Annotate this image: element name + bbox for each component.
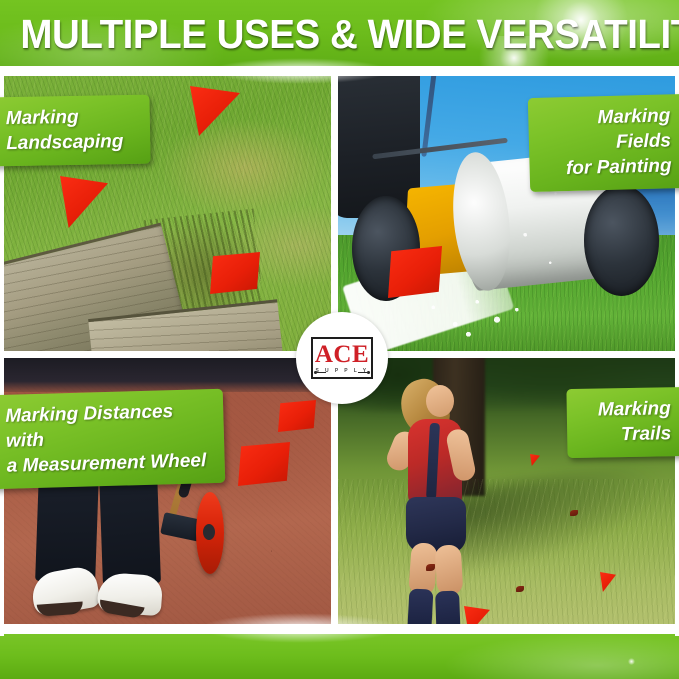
header-banner: MULTIPLE USES & WIDE VERSATILITY [0,0,679,68]
fallen-leaf [516,586,524,592]
logo-tagline: S U P P L Y [316,368,369,375]
marker-flag-icon [600,572,616,592]
runner [386,375,474,634]
fallen-leaf [426,564,435,571]
runner-shorts [406,497,466,553]
label-marking-landscaping: Marking Landscaping [0,95,151,167]
logo-brand-name: ACE [315,343,369,367]
logo-dot [367,371,370,374]
product-infographic: MULTIPLE USES & WIDE VERSATILITY R E [0,0,679,679]
marker-flag-icon [210,252,260,294]
marker-flag-icon [190,86,240,136]
label-marking-trails: Marking Trails [566,387,679,458]
measuring-wheel-hub [203,524,215,540]
page-title: MULTIPLE USES & WIDE VERSATILITY [20,12,658,56]
footer-banner [0,634,679,679]
machine-wheel [584,185,659,296]
marker-flag-icon [60,176,108,228]
label-marking-distances: Marking Distances with a Measurement Whe… [0,389,225,489]
marker-flag-icon [278,400,316,432]
fallen-leaf [570,510,578,516]
footer-divider [0,624,679,634]
brand-logo-badge: ACE S U P P L Y [296,312,388,404]
background-shadow [0,358,331,392]
marker-flag-icon [388,246,442,298]
logo-frame: ACE S U P P L Y [311,337,373,379]
runner-head [426,385,454,417]
logo-dot [314,371,317,374]
marker-flag-icon [238,442,290,486]
logo-rule [358,372,367,373]
marker-flag-icon [530,454,540,466]
sneaker [97,572,164,616]
header-divider [0,66,679,76]
label-marking-fields: Marking Fields for Painting [528,94,679,192]
logo-rule [317,372,326,373]
runner-leg [434,544,463,595]
sparkle-icon [628,658,635,665]
